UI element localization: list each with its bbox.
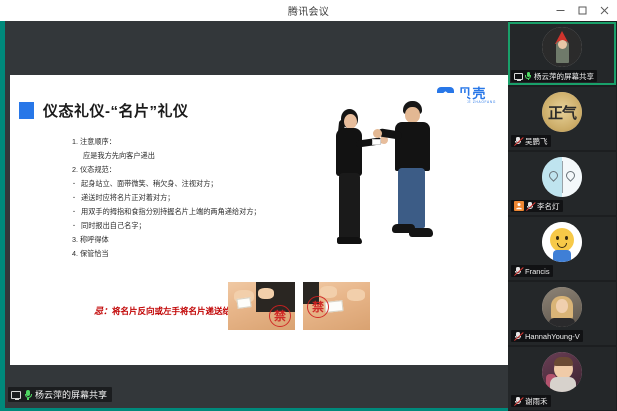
tencent-meeting-window: 腾讯会议 仪态礼仪-“名片”礼仪 <box>0 0 617 411</box>
slide-title: 仪态礼仪-“名片”礼仪 <box>43 100 189 121</box>
avatar <box>542 157 582 197</box>
participant-tile[interactable]: 谢雨禾 <box>508 347 616 410</box>
forbidden-stamp: 禁 <box>269 305 291 327</box>
card-exchange-photo <box>302 93 467 249</box>
screen-share-stage[interactable]: 仪态礼仪-“名片”礼仪 贝壳 BEIKE ZHAOFANG 1. 注意顺序： <box>0 21 508 411</box>
business-card-prop <box>372 139 381 145</box>
participant-name: 杨云萍的屏幕共享 <box>534 71 594 82</box>
participant-label: 杨云萍的屏幕共享 <box>511 70 597 82</box>
participant-name: 谢雨禾 <box>525 396 548 407</box>
mic-muted-icon <box>514 267 523 276</box>
forbidden-stamp: 禁 <box>307 296 329 318</box>
slide-warning-note: 忌：将名片反向或左手将名片递送给客户 <box>94 304 248 317</box>
avatar <box>542 352 582 392</box>
list-item: 同时报出自己名字； <box>72 219 332 233</box>
slide-bullet-list: 1. 注意顺序： 应是我方先向客户递出 2. 仪态规范： 起身站立、面带微笑、稍… <box>72 135 332 261</box>
avatar-text: 正气 <box>542 92 582 132</box>
list-item: 3. 称呼得体 <box>72 233 332 247</box>
maximize-icon[interactable] <box>571 0 593 21</box>
slide-title-row: 仪态礼仪-“名片”礼仪 <box>19 100 189 121</box>
host-badge-icon <box>514 201 524 211</box>
avatar <box>542 27 582 67</box>
participant-name: 李名灯 <box>537 201 560 212</box>
mic-muted-icon <box>526 202 535 211</box>
list-item: 应是我方先向客户递出 <box>72 149 332 163</box>
presentation-slide: 仪态礼仪-“名片”礼仪 贝壳 BEIKE ZHAOFANG 1. 注意顺序： <box>10 75 508 365</box>
avatar <box>542 287 582 327</box>
photo-man-figure <box>388 101 440 249</box>
avatar <box>542 222 582 262</box>
mic-on-icon <box>24 390 32 400</box>
window-titlebar: 腾讯会议 <box>0 0 617 21</box>
participant-tile[interactable]: HannahYoung-V <box>508 282 616 345</box>
mic-muted-icon <box>514 137 523 146</box>
screen-share-banner: 杨云萍的屏幕共享 <box>8 387 112 402</box>
list-item: 用双手的拇指和食指分别持握名片上端的两角递给对方； <box>72 205 332 219</box>
close-icon[interactable] <box>593 0 615 21</box>
mic-muted-icon <box>514 332 523 341</box>
avatar: 正气 <box>542 92 582 132</box>
window-controls <box>549 0 615 21</box>
participant-label: HannahYoung-V <box>511 330 583 342</box>
list-item: 2. 仪态规范： <box>72 163 332 177</box>
minimize-icon[interactable] <box>549 0 571 21</box>
title-accent-marker <box>19 102 34 119</box>
participant-label: 吴鹏飞 <box>511 135 551 147</box>
list-item: 递送时应将名片正对着对方； <box>72 191 332 205</box>
list-item: 4. 保管恰当 <box>72 247 332 261</box>
list-item: 起身站立、面带微笑、稍欠身、注视对方； <box>72 177 332 191</box>
participant-tile[interactable]: Francis <box>508 217 616 280</box>
participant-tile[interactable]: 杨云萍的屏幕共享 <box>508 22 616 85</box>
shared-screen-surface: 仪态礼仪-“名片”礼仪 贝壳 BEIKE ZHAOFANG 1. 注意顺序： <box>5 21 508 408</box>
forbidden-photo: 禁 <box>228 282 295 330</box>
warning-keyword: 忌： <box>94 306 112 316</box>
participant-tile[interactable]: 李名灯 <box>508 152 616 215</box>
mic-muted-icon <box>514 397 523 406</box>
participant-tile[interactable]: 正气 吴鹏飞 <box>508 87 616 150</box>
mic-on-icon <box>525 72 532 81</box>
list-item: 1. 注意顺序： <box>72 135 332 149</box>
participant-name: HannahYoung-V <box>525 332 580 341</box>
participant-name: Francis <box>525 267 550 276</box>
window-title: 腾讯会议 <box>288 3 329 18</box>
share-banner-label: 杨云萍的屏幕共享 <box>35 388 107 401</box>
participant-name: 吴鹏飞 <box>525 136 548 147</box>
participant-label: Francis <box>511 265 553 277</box>
photo-woman-figure <box>328 109 374 249</box>
forbidden-photo: 禁 <box>303 282 370 330</box>
forbidden-photo-row: 禁 禁 <box>228 282 370 330</box>
participant-label: 谢雨禾 <box>511 395 551 407</box>
screen-share-icon <box>514 73 523 80</box>
participant-rail[interactable]: 杨云萍的屏幕共享 正气 吴鹏飞 <box>508 21 617 411</box>
participant-label: 李名灯 <box>511 200 563 212</box>
screen-share-icon <box>11 391 21 399</box>
